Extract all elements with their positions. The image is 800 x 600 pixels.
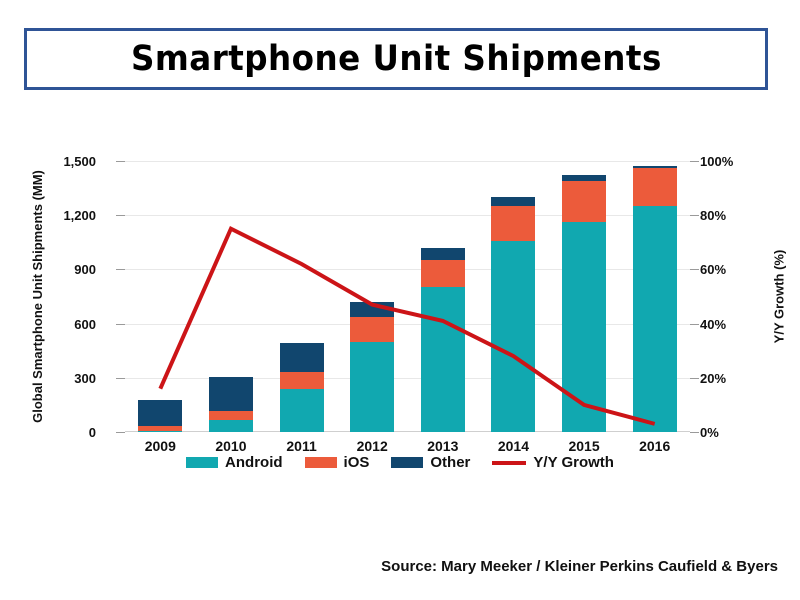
y-axis-tick-right bbox=[690, 161, 699, 162]
y-axis-title-right-label: Y/Y Growth (%) bbox=[772, 250, 787, 344]
y-axis-title-right: Y/Y Growth (%) bbox=[770, 161, 788, 432]
x-axis-label: 2016 bbox=[615, 438, 695, 454]
y-axis-label-left: 300 bbox=[26, 372, 96, 385]
x-axis-label: 2010 bbox=[191, 438, 271, 454]
y-axis-tick-left bbox=[116, 378, 125, 379]
chart-legend: AndroidiOSOtherY/Y Growth bbox=[0, 454, 800, 471]
legend-swatch bbox=[186, 457, 218, 468]
y-axis-title-left-label: Global Smartphone Unit Shipments (MM) bbox=[30, 170, 45, 423]
plot-area bbox=[125, 161, 690, 432]
y-axis-label-left: 1,200 bbox=[26, 209, 96, 222]
y-axis-tick-right bbox=[690, 432, 699, 433]
x-axis-label: 2015 bbox=[544, 438, 624, 454]
legend-item[interactable]: Android bbox=[186, 454, 283, 471]
x-axis-label: 2013 bbox=[403, 438, 483, 454]
y-y-growth-line bbox=[160, 229, 654, 424]
x-axis-label: 2009 bbox=[120, 438, 200, 454]
legend-item[interactable]: Y/Y Growth bbox=[492, 454, 614, 471]
legend-line-marker bbox=[492, 461, 526, 465]
x-axis-label: 2012 bbox=[332, 438, 412, 454]
y-axis-tick-right bbox=[690, 378, 699, 379]
y-axis-tick-right bbox=[690, 324, 699, 325]
y-axis-tick-left bbox=[116, 269, 125, 270]
y-axis-tick-left bbox=[116, 215, 125, 216]
legend-swatch bbox=[391, 457, 423, 468]
x-axis-label: 2014 bbox=[473, 438, 553, 454]
y-axis-tick-left bbox=[116, 324, 125, 325]
legend-label: iOS bbox=[344, 454, 370, 471]
legend-item[interactable]: iOS bbox=[305, 454, 370, 471]
slide-canvas: Smartphone Unit Shipments Global Smartph… bbox=[0, 0, 800, 600]
y-axis-label-right: 20% bbox=[700, 372, 760, 385]
legend-swatch bbox=[305, 457, 337, 468]
y-axis-label-left: 0 bbox=[26, 426, 96, 439]
y-axis-label-left: 1,500 bbox=[26, 155, 96, 168]
page-title: Smartphone Unit Shipments bbox=[131, 39, 662, 79]
legend-label: Y/Y Growth bbox=[533, 454, 614, 471]
chart-container: Global Smartphone Unit Shipments (MM) Y/… bbox=[0, 130, 800, 500]
y-axis-tick-right bbox=[690, 269, 699, 270]
growth-line-layer bbox=[125, 161, 690, 432]
y-axis-label-right: 100% bbox=[700, 155, 760, 168]
y-axis-label-right: 80% bbox=[700, 209, 760, 222]
y-axis-label-left: 900 bbox=[26, 263, 96, 276]
y-axis-label-right: 40% bbox=[700, 318, 760, 331]
y-axis-tick-left bbox=[116, 161, 125, 162]
x-axis-label: 2011 bbox=[262, 438, 342, 454]
legend-item[interactable]: Other bbox=[391, 454, 470, 471]
y-axis-label-right: 60% bbox=[700, 263, 760, 276]
y-axis-label-left: 600 bbox=[26, 318, 96, 331]
legend-label: Android bbox=[225, 454, 283, 471]
y-axis-label-right: 0% bbox=[700, 426, 760, 439]
y-axis-tick-right bbox=[690, 215, 699, 216]
legend-label: Other bbox=[430, 454, 470, 471]
y-axis-title-left: Global Smartphone Unit Shipments (MM) bbox=[28, 161, 46, 432]
y-axis-tick-left bbox=[116, 432, 125, 433]
source-note: Source: Mary Meeker / Kleiner Perkins Ca… bbox=[381, 558, 778, 575]
title-box: Smartphone Unit Shipments bbox=[24, 28, 768, 90]
